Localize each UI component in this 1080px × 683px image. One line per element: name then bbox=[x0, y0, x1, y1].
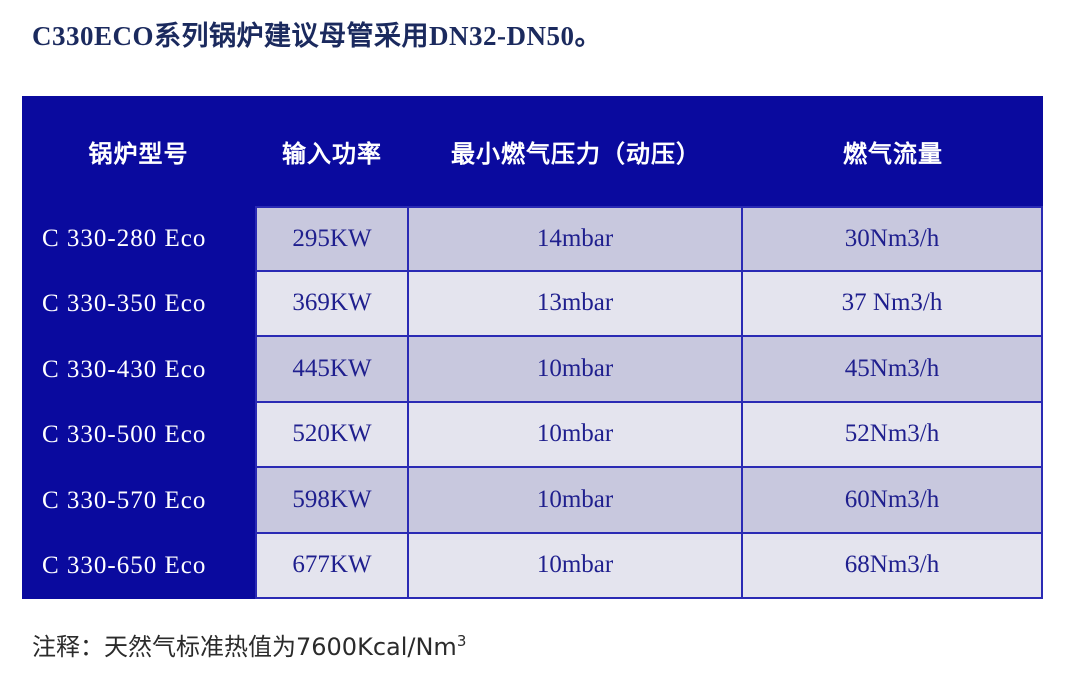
cell-flow: 52Nm3/h bbox=[743, 403, 1043, 469]
footnote-text: 注释：天然气标准热值为7600Kcal/Nm bbox=[32, 633, 457, 661]
table-row: C 330-500 Eco 520KW 10mbar 52Nm3/h bbox=[22, 403, 1043, 469]
cell-flow: 60Nm3/h bbox=[743, 468, 1043, 534]
footnote: 注释：天然气标准热值为7600Kcal/Nm3 bbox=[32, 627, 466, 662]
table-row: C 330-350 Eco 369KW 13mbar 37 Nm3/h bbox=[22, 272, 1043, 338]
column-header-pressure: 最小燃气压力（动压） bbox=[409, 134, 743, 169]
boiler-spec-table: 锅炉型号 输入功率 最小燃气压力（动压） 燃气流量 C 330-280 Eco … bbox=[22, 96, 1043, 599]
table-body: C 330-280 Eco 295KW 14mbar 30Nm3/h C 330… bbox=[22, 206, 1043, 599]
table-row: C 330-650 Eco 677KW 10mbar 68Nm3/h bbox=[22, 534, 1043, 600]
column-header-power: 输入功率 bbox=[255, 134, 409, 169]
cell-power: 369KW bbox=[255, 272, 409, 338]
cell-power: 598KW bbox=[255, 468, 409, 534]
table-header-row: 锅炉型号 输入功率 最小燃气压力（动压） 燃气流量 bbox=[22, 96, 1043, 206]
cell-power: 445KW bbox=[255, 337, 409, 403]
table-row: C 330-570 Eco 598KW 10mbar 60Nm3/h bbox=[22, 468, 1043, 534]
cell-pressure: 14mbar bbox=[409, 206, 743, 272]
cell-model: C 330-500 Eco bbox=[22, 403, 255, 469]
cell-pressure: 13mbar bbox=[409, 272, 743, 338]
cell-power: 520KW bbox=[255, 403, 409, 469]
table-row: C 330-280 Eco 295KW 14mbar 30Nm3/h bbox=[22, 206, 1043, 272]
cell-power: 677KW bbox=[255, 534, 409, 600]
cell-pressure: 10mbar bbox=[409, 534, 743, 600]
cell-power: 295KW bbox=[255, 206, 409, 272]
table-row: C 330-430 Eco 445KW 10mbar 45Nm3/h bbox=[22, 337, 1043, 403]
cell-pressure: 10mbar bbox=[409, 468, 743, 534]
cell-model: C 330-280 Eco bbox=[22, 206, 255, 272]
cell-pressure: 10mbar bbox=[409, 403, 743, 469]
cell-flow: 37 Nm3/h bbox=[743, 272, 1043, 338]
cell-model: C 330-570 Eco bbox=[22, 468, 255, 534]
cell-model: C 330-430 Eco bbox=[22, 337, 255, 403]
cell-model: C 330-650 Eco bbox=[22, 534, 255, 600]
footnote-superscript: 3 bbox=[457, 632, 467, 650]
column-header-model: 锅炉型号 bbox=[22, 134, 255, 169]
cell-pressure: 10mbar bbox=[409, 337, 743, 403]
cell-model: C 330-350 Eco bbox=[22, 272, 255, 338]
cell-flow: 68Nm3/h bbox=[743, 534, 1043, 600]
cell-flow: 30Nm3/h bbox=[743, 206, 1043, 272]
page-title: C330ECO系列锅炉建议母管采用DN32-DN50。 bbox=[32, 14, 602, 53]
cell-flow: 45Nm3/h bbox=[743, 337, 1043, 403]
column-header-flow: 燃气流量 bbox=[743, 134, 1043, 169]
